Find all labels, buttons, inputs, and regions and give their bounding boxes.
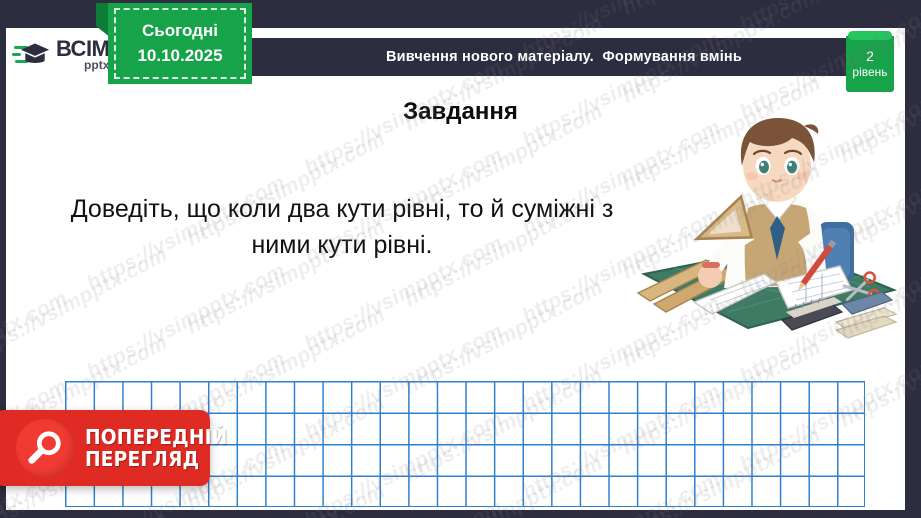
preview-badge[interactable]: ПОПЕРЕДНІЙ ПЕРЕГЛЯД bbox=[0, 410, 210, 486]
preview-badge-line2: ПЕРЕГЛЯД bbox=[85, 448, 227, 470]
task-text: Доведіть, що коли два кути рівні, то й с… bbox=[62, 192, 622, 263]
graduation-cap-icon bbox=[20, 41, 50, 69]
date-badge-label: Сьогодні bbox=[142, 19, 218, 44]
header-title: Вивчення нового матеріалу. Формування вм… bbox=[386, 49, 742, 65]
date-badge: Сьогодні 10.10.2025 bbox=[108, 3, 252, 84]
level-number: 2 bbox=[866, 48, 874, 66]
brand-logo[interactable]: ВСІМ pptx bbox=[6, 28, 116, 80]
header-bar: Вивчення нового матеріалу. Формування вм… bbox=[252, 38, 876, 76]
motion-lines-icon bbox=[12, 39, 38, 69]
slide-root: Вивчення нового матеріалу. Формування вм… bbox=[0, 0, 921, 518]
brand-name: ВСІМ pptx bbox=[56, 38, 109, 71]
level-label: рівень bbox=[852, 65, 887, 80]
brand-name-main: ВСІМ bbox=[56, 38, 109, 60]
level-badge: 2 рівень bbox=[846, 36, 894, 92]
student-illustration bbox=[636, 104, 898, 354]
preview-badge-text: ПОПЕРЕДНІЙ ПЕРЕГЛЯД bbox=[85, 426, 227, 471]
date-badge-value: 10.10.2025 bbox=[137, 44, 222, 69]
preview-badge-line1: ПОПЕРЕДНІЙ bbox=[85, 426, 227, 448]
magnifier-icon bbox=[16, 419, 74, 477]
